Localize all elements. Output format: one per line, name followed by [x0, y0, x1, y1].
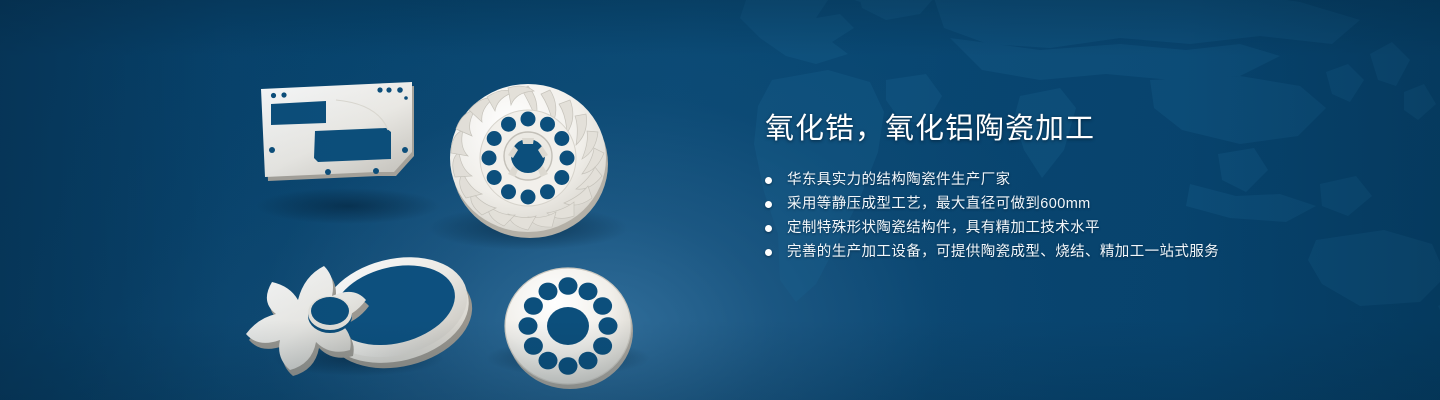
banner-headline: 氧化锆，氧化铝陶瓷加工: [765, 108, 1385, 150]
feature-list: 华东具实力的结构陶瓷件生产厂家 采用等静压成型工艺，最大直径可做到600mm 定…: [765, 172, 1385, 261]
banner-copy: 氧化锆，氧化铝陶瓷加工 华东具实力的结构陶瓷件生产厂家 采用等静压成型工艺，最大…: [765, 108, 1385, 261]
bullet-dot-icon: [765, 201, 772, 208]
feature-list-item: 定制特殊形状陶瓷结构件，具有精加工技术水平: [765, 220, 1385, 237]
bullet-dot-icon: [765, 177, 772, 184]
part-flat-plate: [261, 82, 414, 181]
bullet-dot-icon: [765, 249, 772, 256]
hero-banner: 氧化锆，氧化铝陶瓷加工 华东具实力的结构陶瓷件生产厂家 采用等静压成型工艺，最大…: [0, 0, 1440, 400]
feature-text: 完善的生产加工设备，可提供陶瓷成型、烧结、精加工一站式服务: [787, 244, 1219, 260]
feature-list-item: 华东具实力的结构陶瓷件生产厂家: [765, 172, 1385, 189]
ceramic-products-image: [228, 38, 658, 383]
feature-text: 定制特殊形状陶瓷结构件，具有精加工技术水平: [787, 220, 1100, 236]
feature-list-item: 采用等静压成型工艺，最大直径可做到600mm: [765, 196, 1385, 213]
bullet-dot-icon: [765, 225, 772, 232]
part-impeller-disc: [450, 84, 608, 238]
feature-text: 华东具实力的结构陶瓷件生产厂家: [787, 172, 1011, 188]
feature-list-item: 完善的生产加工设备，可提供陶瓷成型、烧结、精加工一站式服务: [765, 244, 1385, 261]
feature-text: 采用等静压成型工艺，最大直径可做到600mm: [787, 196, 1091, 212]
